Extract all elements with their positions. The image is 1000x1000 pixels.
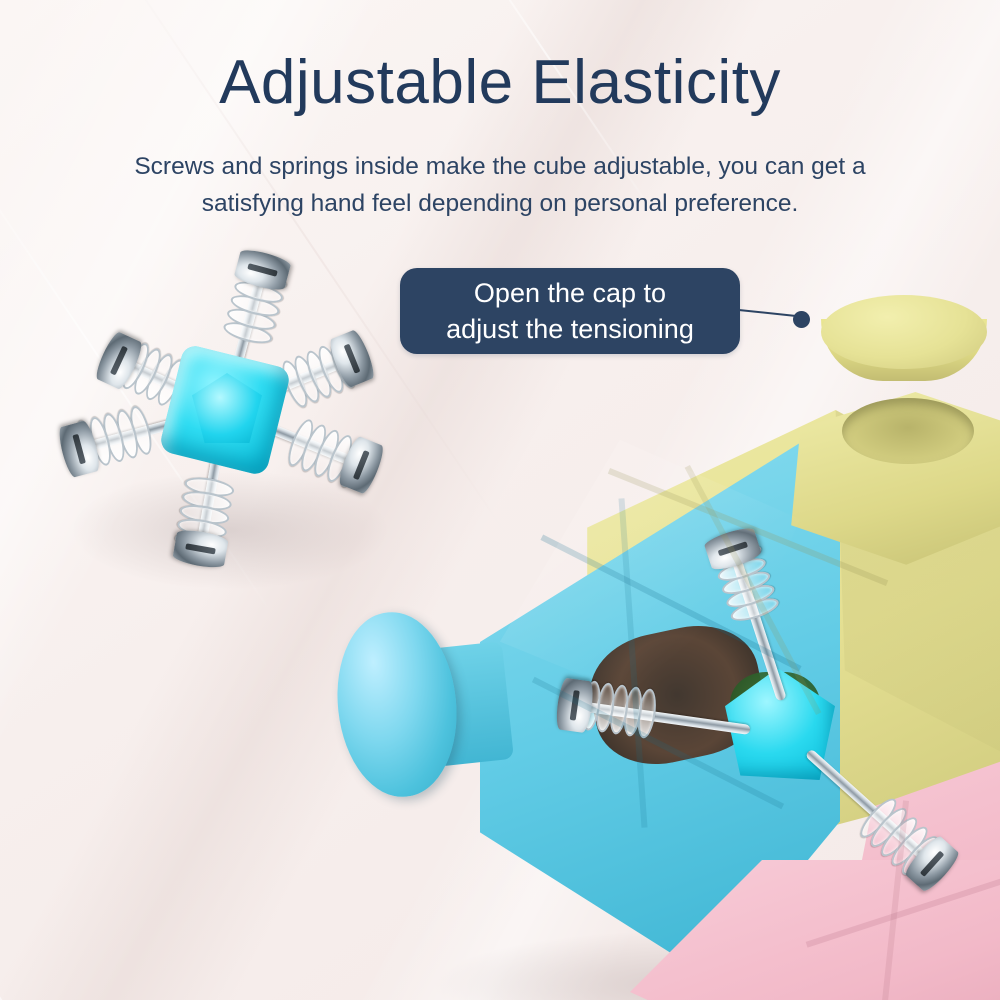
subtitle-line-1: Screws and springs inside make the cube …	[0, 148, 1000, 185]
page-subtitle: Screws and springs inside make the cube …	[0, 148, 1000, 222]
product-feature-banner: Adjustable Elasticity Screws and springs…	[0, 0, 1000, 1000]
leader-dot-icon	[793, 311, 810, 328]
yellow-boss-bore	[842, 398, 974, 464]
subtitle-line-2: satisfying hand feel depending on person…	[0, 185, 1000, 222]
callout-line-1: Open the cap to	[474, 275, 666, 311]
callout-line-2: adjust the tensioning	[446, 311, 694, 347]
page-title: Adjustable Elasticity	[0, 52, 1000, 114]
callout-box[interactable]: Open the cap to adjust the tensioning	[400, 268, 740, 354]
